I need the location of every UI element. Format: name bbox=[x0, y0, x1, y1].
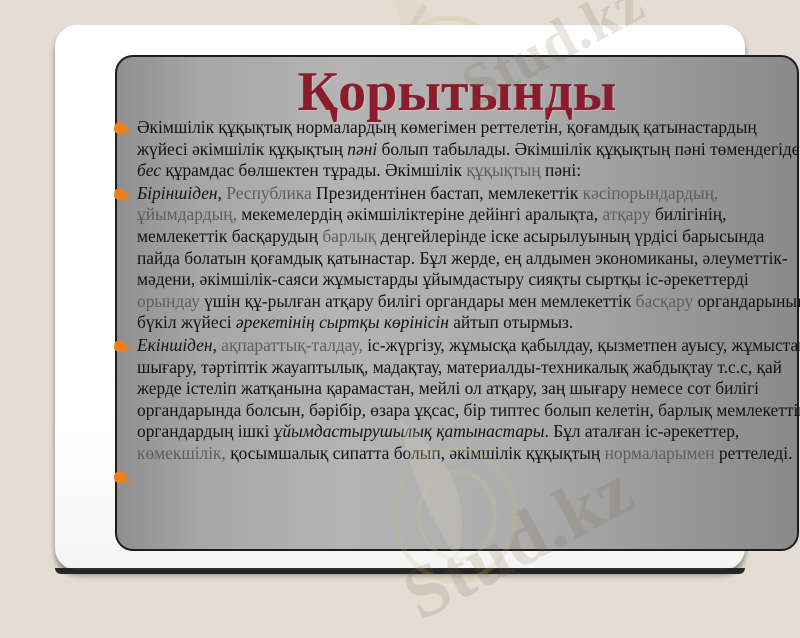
bullet-text-2: Біріншіден, Республика Президентінен бас… bbox=[137, 183, 800, 333]
bullet-point-icon bbox=[114, 340, 125, 352]
bullet-point-icon bbox=[114, 471, 125, 483]
bullet-text-1: Әкімшілік құқықтық нормалардың көмегімен… bbox=[137, 117, 800, 180]
bullet-point-icon bbox=[114, 188, 125, 200]
list-item: Біріншіден, Республика Президентінен бас… bbox=[110, 183, 800, 334]
bullet-point-icon bbox=[114, 122, 125, 134]
list-item bbox=[110, 466, 800, 488]
page-title: Қорытынды bbox=[117, 61, 797, 123]
slide-panel: Қорытынды Әкімшілік құқықтық нормалардың… bbox=[55, 25, 745, 570]
list-item: Екіншіден, ақпараттық-талдау, іс-жүргізу… bbox=[110, 335, 800, 465]
bullet-list: Әкімшілік құқықтық нормалардың көмегімен… bbox=[110, 117, 800, 489]
list-item: Әкімшілік құқықтық нормалардың көмегімен… bbox=[110, 117, 800, 182]
bullet-text-3: Екіншіден, ақпараттық-талдау, іс-жүргізу… bbox=[137, 335, 800, 463]
presentation-slide: { "slide": { "title": "Қорытынды", "titl… bbox=[0, 0, 800, 600]
